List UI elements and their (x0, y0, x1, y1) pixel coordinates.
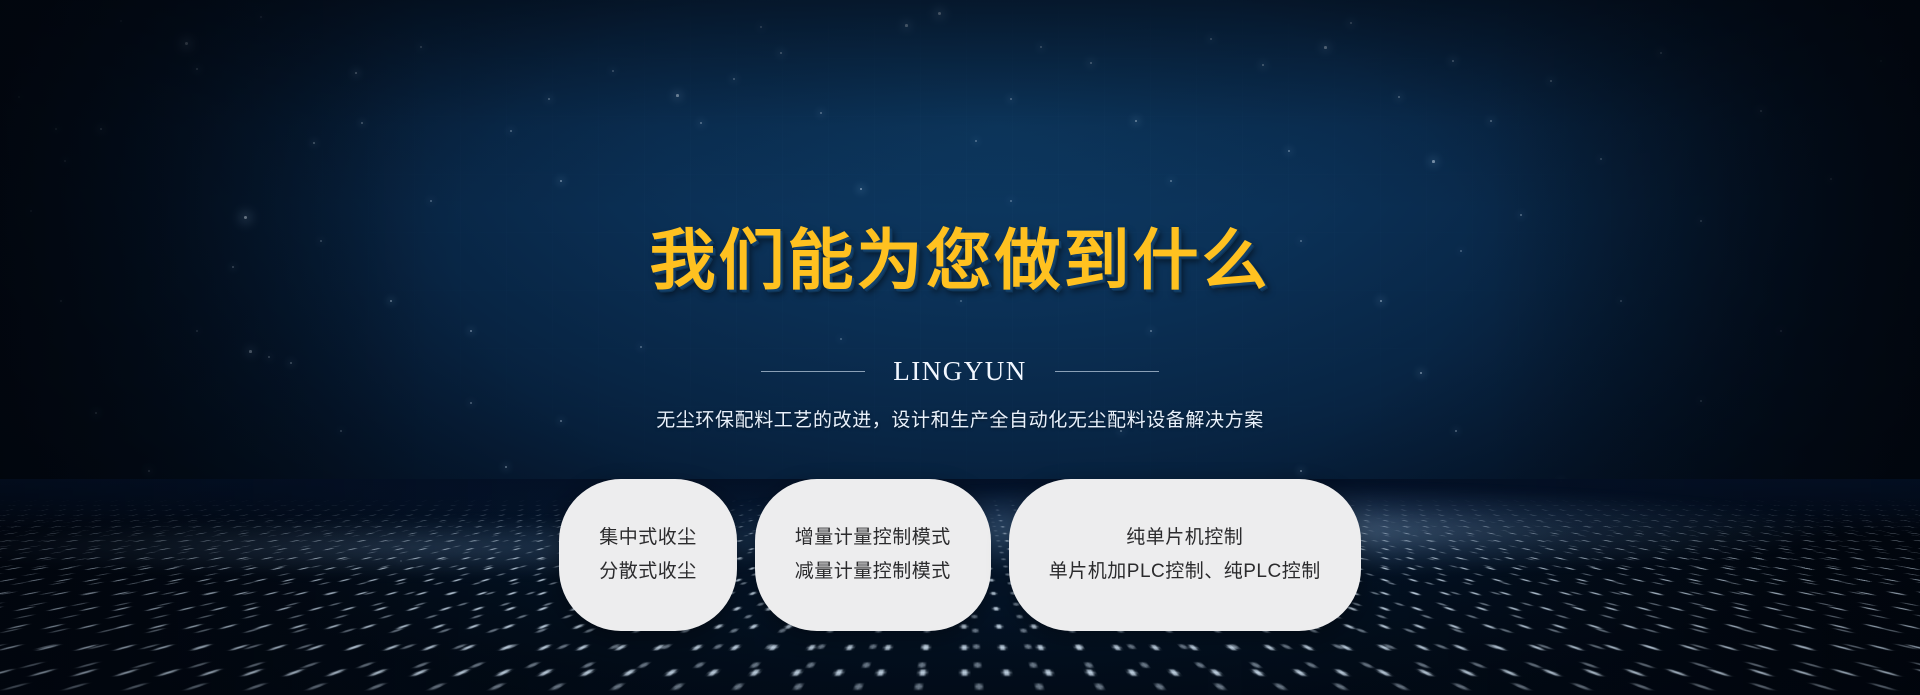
card-line: 减量计量控制模式 (795, 561, 951, 583)
feature-card-controller-options[interactable]: 纯单片机控制 单片机加PLC控制、纯PLC控制 (1009, 479, 1361, 631)
hero-banner: 我们能为您做到什么 LINGYUN 无尘环保配料工艺的改进，设计和生产全自动化无… (0, 0, 1920, 695)
divider-line-left (761, 371, 865, 372)
feature-card-metering-control-mode[interactable]: 增量计量控制模式 减量计量控制模式 (755, 479, 991, 631)
card-line: 增量计量控制模式 (795, 527, 951, 549)
card-line: 纯单片机控制 (1126, 527, 1243, 549)
banner-content: 我们能为您做到什么 LINGYUN 无尘环保配料工艺的改进，设计和生产全自动化无… (0, 0, 1920, 695)
brand-subtitle: LINGYUN (893, 356, 1026, 387)
page-title: 我们能为您做到什么 (650, 228, 1271, 294)
card-line: 单片机加PLC控制、纯PLC控制 (1049, 561, 1321, 583)
banner-description: 无尘环保配料工艺的改进，设计和生产全自动化无尘配料设备解决方案 (656, 405, 1264, 432)
feature-card-list: 集中式收尘 分散式收尘 增量计量控制模式 减量计量控制模式 纯单片机控制 单片机… (559, 479, 1360, 631)
card-line: 分散式收尘 (599, 561, 697, 583)
card-line: 集中式收尘 (599, 527, 697, 549)
feature-card-dust-collection[interactable]: 集中式收尘 分散式收尘 (559, 479, 737, 631)
divider-line-right (1055, 371, 1159, 372)
subtitle-row: LINGYUN (761, 356, 1158, 387)
